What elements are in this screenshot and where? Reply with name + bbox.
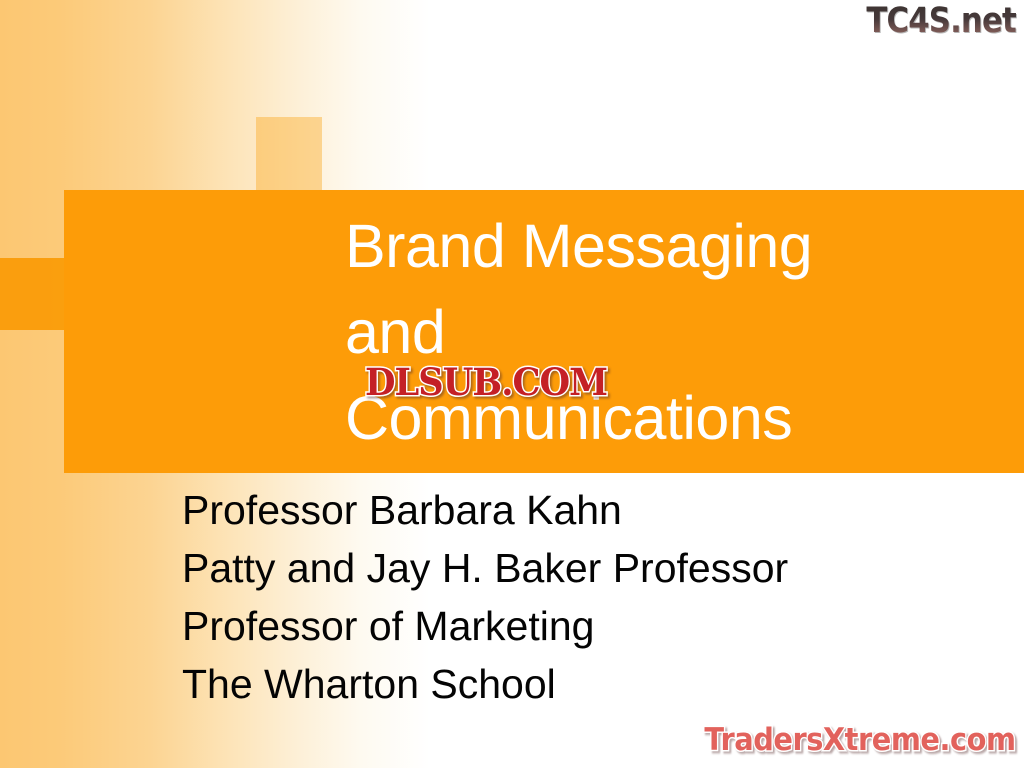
subtitle-line-institution: The Wharton School bbox=[182, 655, 982, 713]
page-title: Brand Messaging and Communications bbox=[345, 203, 1005, 461]
subtitle-block: Professor Barbara Kahn Patty and Jay H. … bbox=[182, 481, 982, 713]
subtitle-line-chair-title: Patty and Jay H. Baker Professor bbox=[182, 539, 982, 597]
watermark-dlsub: DLSUB.COM bbox=[365, 360, 607, 404]
slide-canvas: Brand Messaging and Communications Profe… bbox=[0, 0, 1024, 768]
subtitle-line-role: Professor of Marketing bbox=[182, 597, 982, 655]
title-line-1: Brand Messaging bbox=[345, 203, 1005, 289]
decorative-square bbox=[0, 258, 64, 330]
subtitle-line-presenter-name: Professor Barbara Kahn bbox=[182, 481, 982, 539]
watermark-tc4s: TC4S.net bbox=[867, 1, 1016, 41]
decorative-square bbox=[256, 117, 322, 190]
watermark-tradersxtreme: TradersXtreme.com bbox=[705, 722, 1016, 758]
